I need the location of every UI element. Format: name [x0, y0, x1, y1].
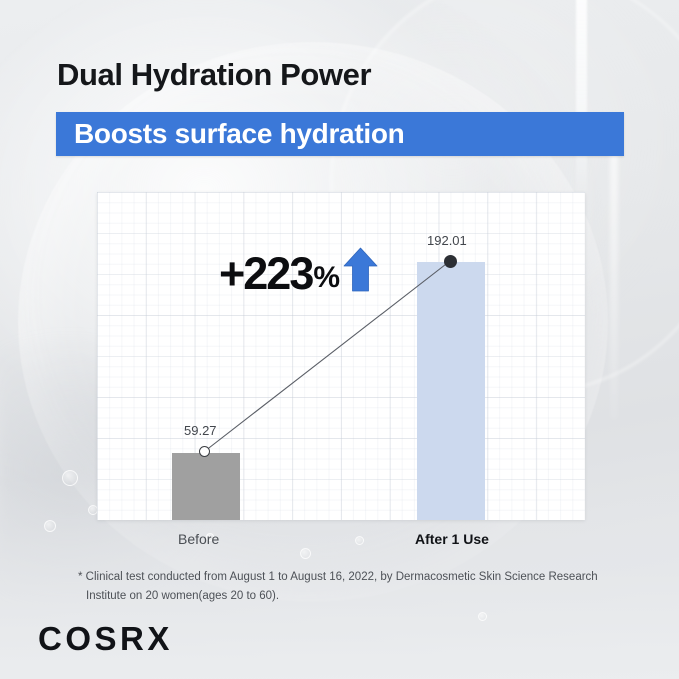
claim-banner: Boosts surface hydration [56, 112, 624, 156]
brand-logo: COSRX [38, 620, 173, 658]
axis-label-after-1-use: After 1 Use [415, 531, 489, 547]
footnote: * Clinical test conducted from August 1 … [78, 568, 608, 605]
percent-increase-value: +223 [219, 251, 312, 296]
data-point-marker-before [199, 446, 210, 457]
background-highlight-streak [610, 120, 618, 420]
percent-increase-callout: +223 % [219, 248, 378, 298]
chart-plot-area: 59.27 192.01 +223 % [97, 192, 585, 520]
footnote-line-2: Institute on 20 women(ages 20 to 60). [78, 587, 608, 606]
percent-sign: % [313, 263, 340, 293]
footnote-line-1: * Clinical test conducted from August 1 … [78, 568, 608, 587]
bar-after-1-use [417, 262, 485, 520]
arrow-up-icon [343, 247, 378, 297]
bar-before [172, 453, 240, 520]
data-label-before: 59.27 [184, 423, 217, 438]
axis-label-before: Before [178, 531, 219, 547]
background-bubble [478, 612, 487, 621]
product-claim-infographic: Dual Hydration Power Boosts surface hydr… [0, 0, 679, 679]
background-bubble [355, 536, 364, 545]
connector-line [97, 192, 585, 520]
page-title: Dual Hydration Power [57, 57, 371, 93]
hydration-bar-chart: 59.27 192.01 +223 % [97, 192, 585, 520]
background-bubble [62, 470, 78, 486]
data-label-after: 192.01 [427, 233, 467, 248]
background-bubble [44, 520, 56, 532]
background-bubble [300, 548, 311, 559]
claim-banner-text: Boosts surface hydration [74, 118, 404, 150]
data-point-marker-after [444, 255, 457, 268]
background-serum-drip [576, 0, 587, 200]
